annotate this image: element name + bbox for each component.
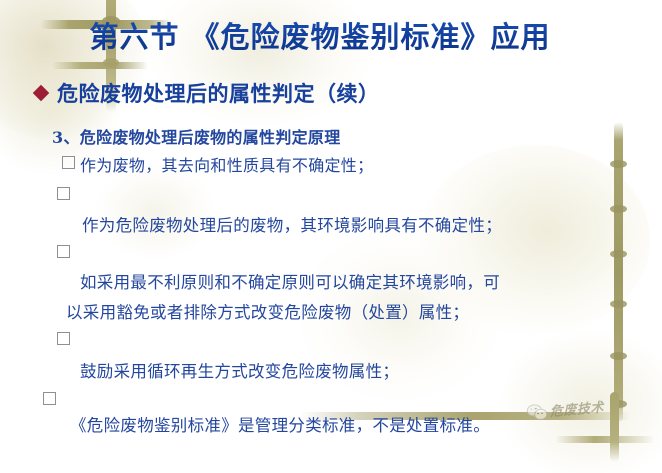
bullet-text-3-line-2: 以采用豁免或者排除方式改变危险废物（处置）属性；	[66, 299, 469, 323]
wechat-icon	[526, 403, 546, 420]
square-bullet-icon	[57, 187, 70, 200]
square-bullet-icon	[43, 392, 56, 405]
bamboo-node-decoration	[610, 160, 627, 168]
bamboo-node-decoration	[103, 58, 119, 67]
presentation-slide: 第六节 《危险废物鉴别标准》应用 危险废物处理后的属性判定（续） 3、危险废物处…	[0, 0, 662, 473]
bamboo-branch-decoration-bottom-second	[555, 436, 655, 443]
bamboo-node-decoration	[610, 205, 627, 213]
square-bullet-icon	[57, 245, 70, 258]
bamboo-node-decoration	[610, 300, 627, 308]
square-bullet-icon	[62, 156, 75, 169]
bamboo-stem-decoration-bottom	[610, 392, 619, 462]
bullet-text-4: 鼓励采用循环再生方式改变危险废物属性；	[80, 358, 399, 382]
slide-subtitle: 危险废物处理后的属性判定（续）	[57, 78, 380, 108]
square-bullet-icon	[57, 332, 70, 345]
diamond-bullet-icon	[34, 86, 48, 100]
bullet-text-3-line-1: 如采用最不利原则和不确定原则可以确定其环境影响，可	[80, 269, 500, 293]
body-numbered-heading: 3、危险废物处理后废物的属性判定原理	[52, 124, 341, 148]
bamboo-node-decoration	[610, 352, 627, 360]
slide-title: 第六节 《危险废物鉴别标准》应用	[0, 14, 640, 56]
bamboo-branch-decoration-top-second	[52, 62, 148, 69]
slide-subtitle-row: 危险废物处理后的属性判定（续）	[34, 78, 380, 108]
bullet-text-2: 作为危险废物处理后的废物，其环境影响具有不确定性；	[82, 212, 502, 236]
bullet-text-1: 作为废物，其去向和性质具有不确定性；	[80, 152, 373, 176]
bamboo-node-decoration	[610, 250, 627, 258]
bullet-text-5: 《危险废物鉴别标准》是管理分类标准，不是处置标准。	[70, 412, 490, 436]
